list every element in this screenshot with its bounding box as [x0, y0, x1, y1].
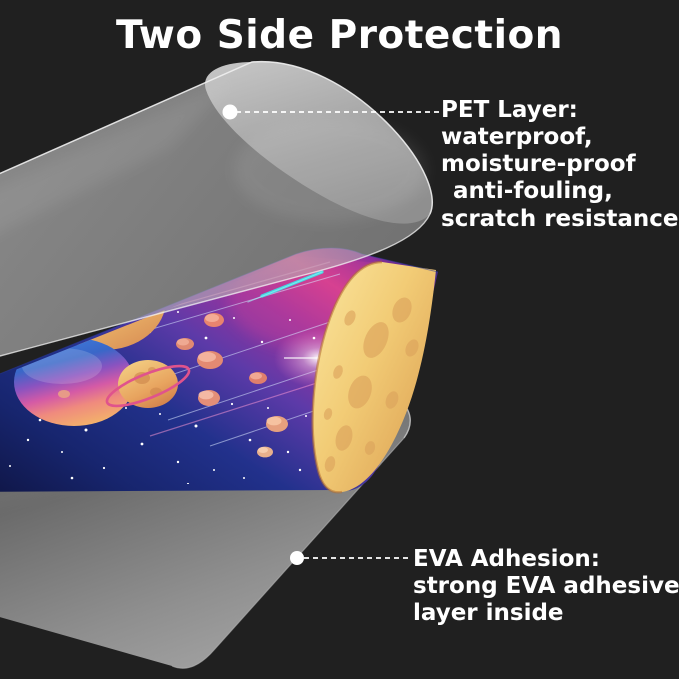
pet-callout-line-4: scratch resistance: [441, 206, 679, 233]
pet-callout-line-2: moisture-proof: [441, 151, 679, 178]
eva-callout-line-2: layer inside: [413, 600, 679, 627]
pet-callout-heading: PET Layer:: [441, 97, 679, 124]
page-title: Two Side Protection: [0, 13, 679, 58]
eva-leader-dot: [290, 551, 304, 565]
pet-leader-dot: [223, 105, 238, 120]
pet-callout-line-1: waterproof,: [441, 124, 679, 151]
pet-layer-callout: PET Layer: waterproof, moisture-proof an…: [441, 97, 679, 233]
eva-callout-heading: EVA Adhesion:: [413, 546, 679, 573]
eva-callout-line-1: strong EVA adhesive: [413, 573, 679, 600]
eva-leader: [290, 551, 412, 565]
pet-callout-line-3: anti-fouling,: [441, 178, 679, 205]
infographic-canvas: Two Side Protection PET Layer: waterproo…: [0, 0, 679, 679]
eva-adhesion-callout: EVA Adhesion: strong EVA adhesive layer …: [413, 546, 679, 627]
